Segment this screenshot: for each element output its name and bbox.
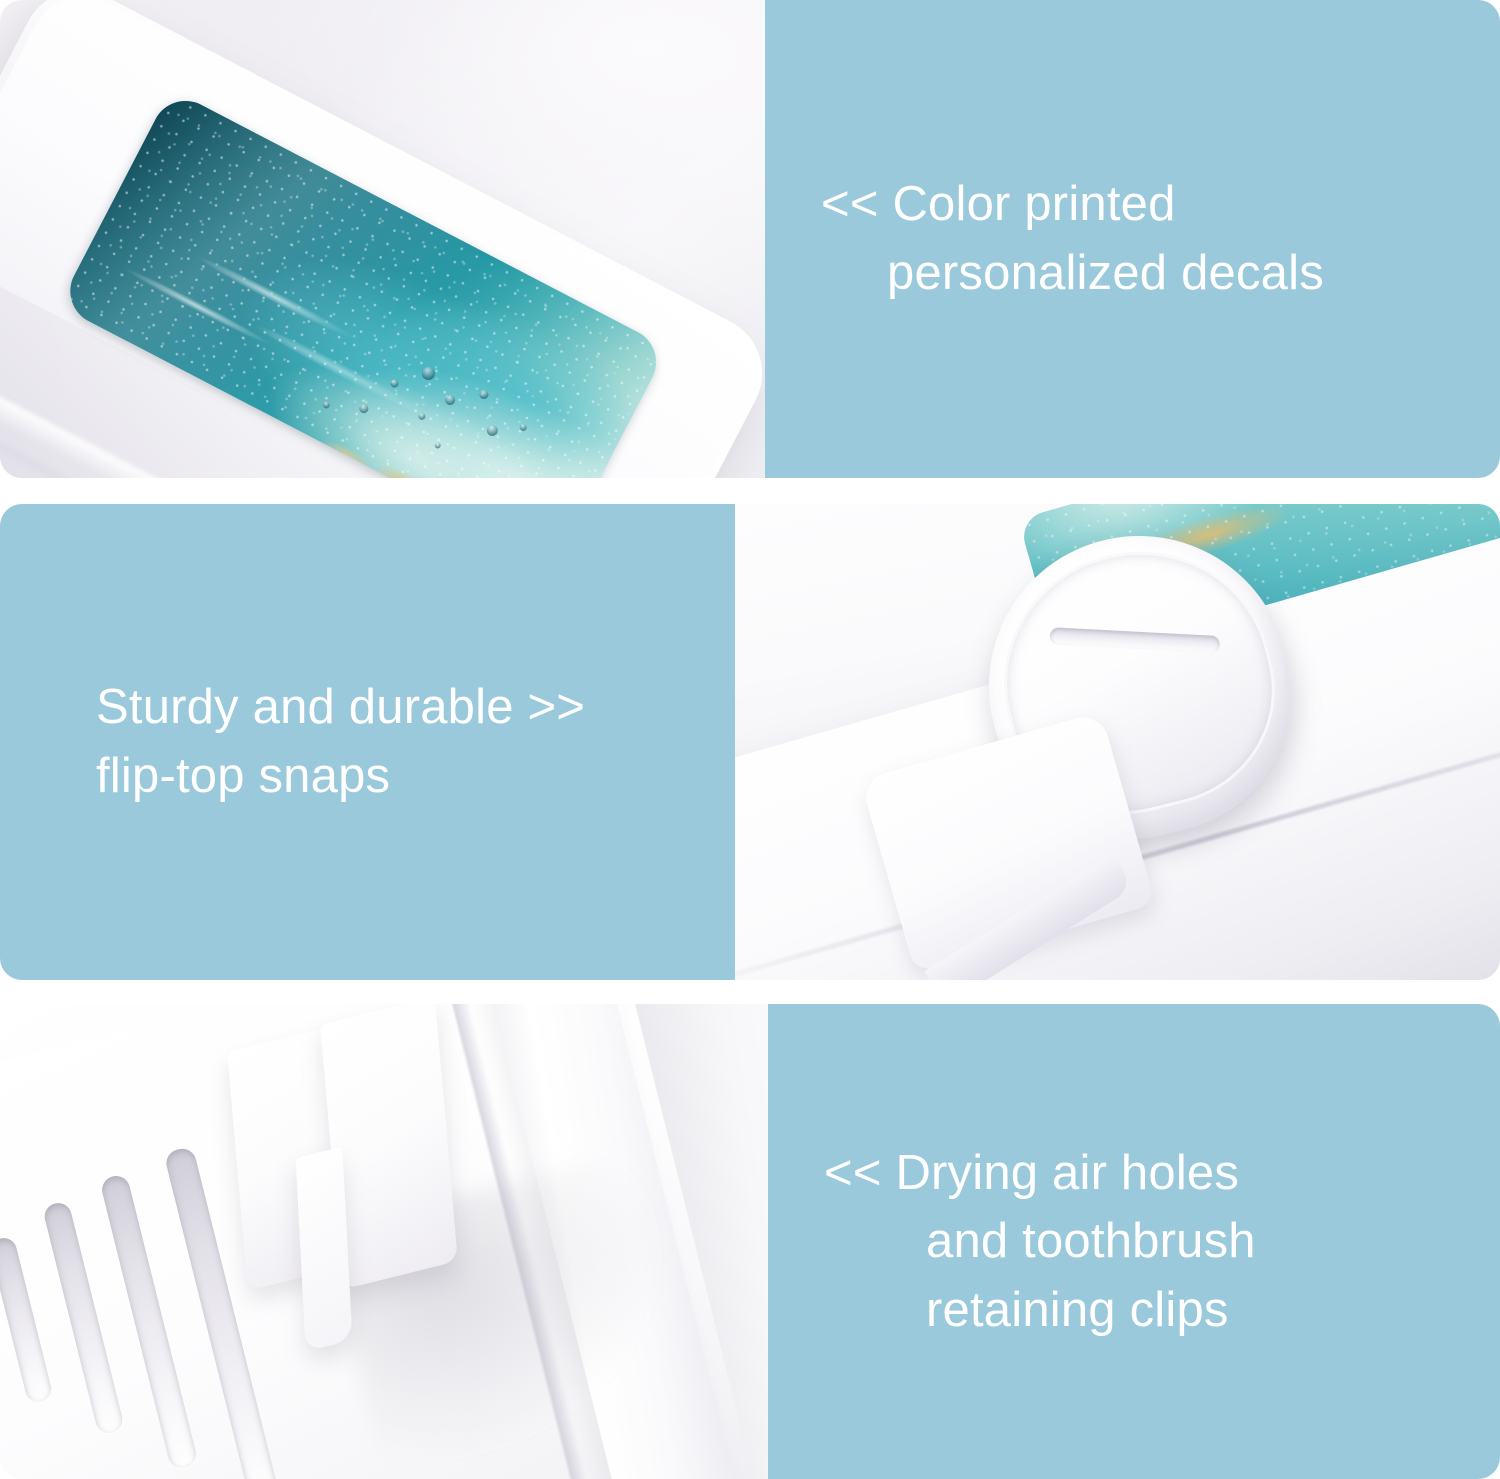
- feature-panel-color-printed-decals: << Color printed personalized decals: [0, 0, 1500, 478]
- infographic-sheet: << Color printed personalized decals Stu…: [0, 0, 1500, 1479]
- caption-panel-1: << Color printed personalized decals: [765, 0, 1500, 478]
- caption-line: retaining clips: [824, 1276, 1476, 1345]
- caption-panel-2: Sturdy and durable >> flip-top snaps: [0, 504, 735, 980]
- caption-line: flip-top snaps: [96, 742, 711, 811]
- feature-panel-drying-air-holes: << Drying air holes and toothbrush retai…: [0, 1004, 1500, 1479]
- product-photo-snap-latch: [735, 504, 1500, 980]
- feature-panel-flip-top-snaps: Sturdy and durable >> flip-top snaps: [0, 504, 1500, 980]
- caption-line: << Drying air holes: [824, 1139, 1476, 1208]
- product-photo-air-slots-clips: [0, 1004, 768, 1479]
- toothbrush-retaining-clip: [296, 1147, 353, 1352]
- caption-panel-3: << Drying air holes and toothbrush retai…: [768, 1004, 1500, 1479]
- caption-line: personalized decals: [821, 239, 1476, 308]
- caption-line: << Color printed: [821, 170, 1476, 239]
- product-photo-decal-lid: [0, 0, 765, 478]
- caption-line: Sturdy and durable >>: [96, 673, 711, 742]
- caption-line: and toothbrush: [824, 1207, 1476, 1276]
